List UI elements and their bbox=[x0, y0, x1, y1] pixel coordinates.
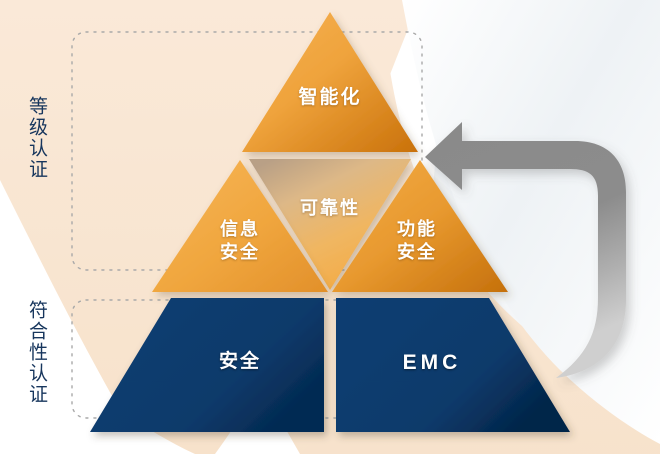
side-label-compliance-certification: 符合性认证 bbox=[26, 300, 46, 405]
diagram-canvas: 等级认证 符合性认证 智能化 信息 安全 可靠性 功能 安全 安全 EMC bbox=[0, 0, 660, 454]
pyramid-shapes bbox=[0, 0, 660, 454]
tier-block-emc[interactable] bbox=[336, 298, 570, 432]
side-label-grade-certification: 等级认证 bbox=[26, 96, 46, 180]
tier-block-safety[interactable] bbox=[90, 298, 324, 432]
tier-block-intelligent[interactable] bbox=[242, 12, 418, 152]
